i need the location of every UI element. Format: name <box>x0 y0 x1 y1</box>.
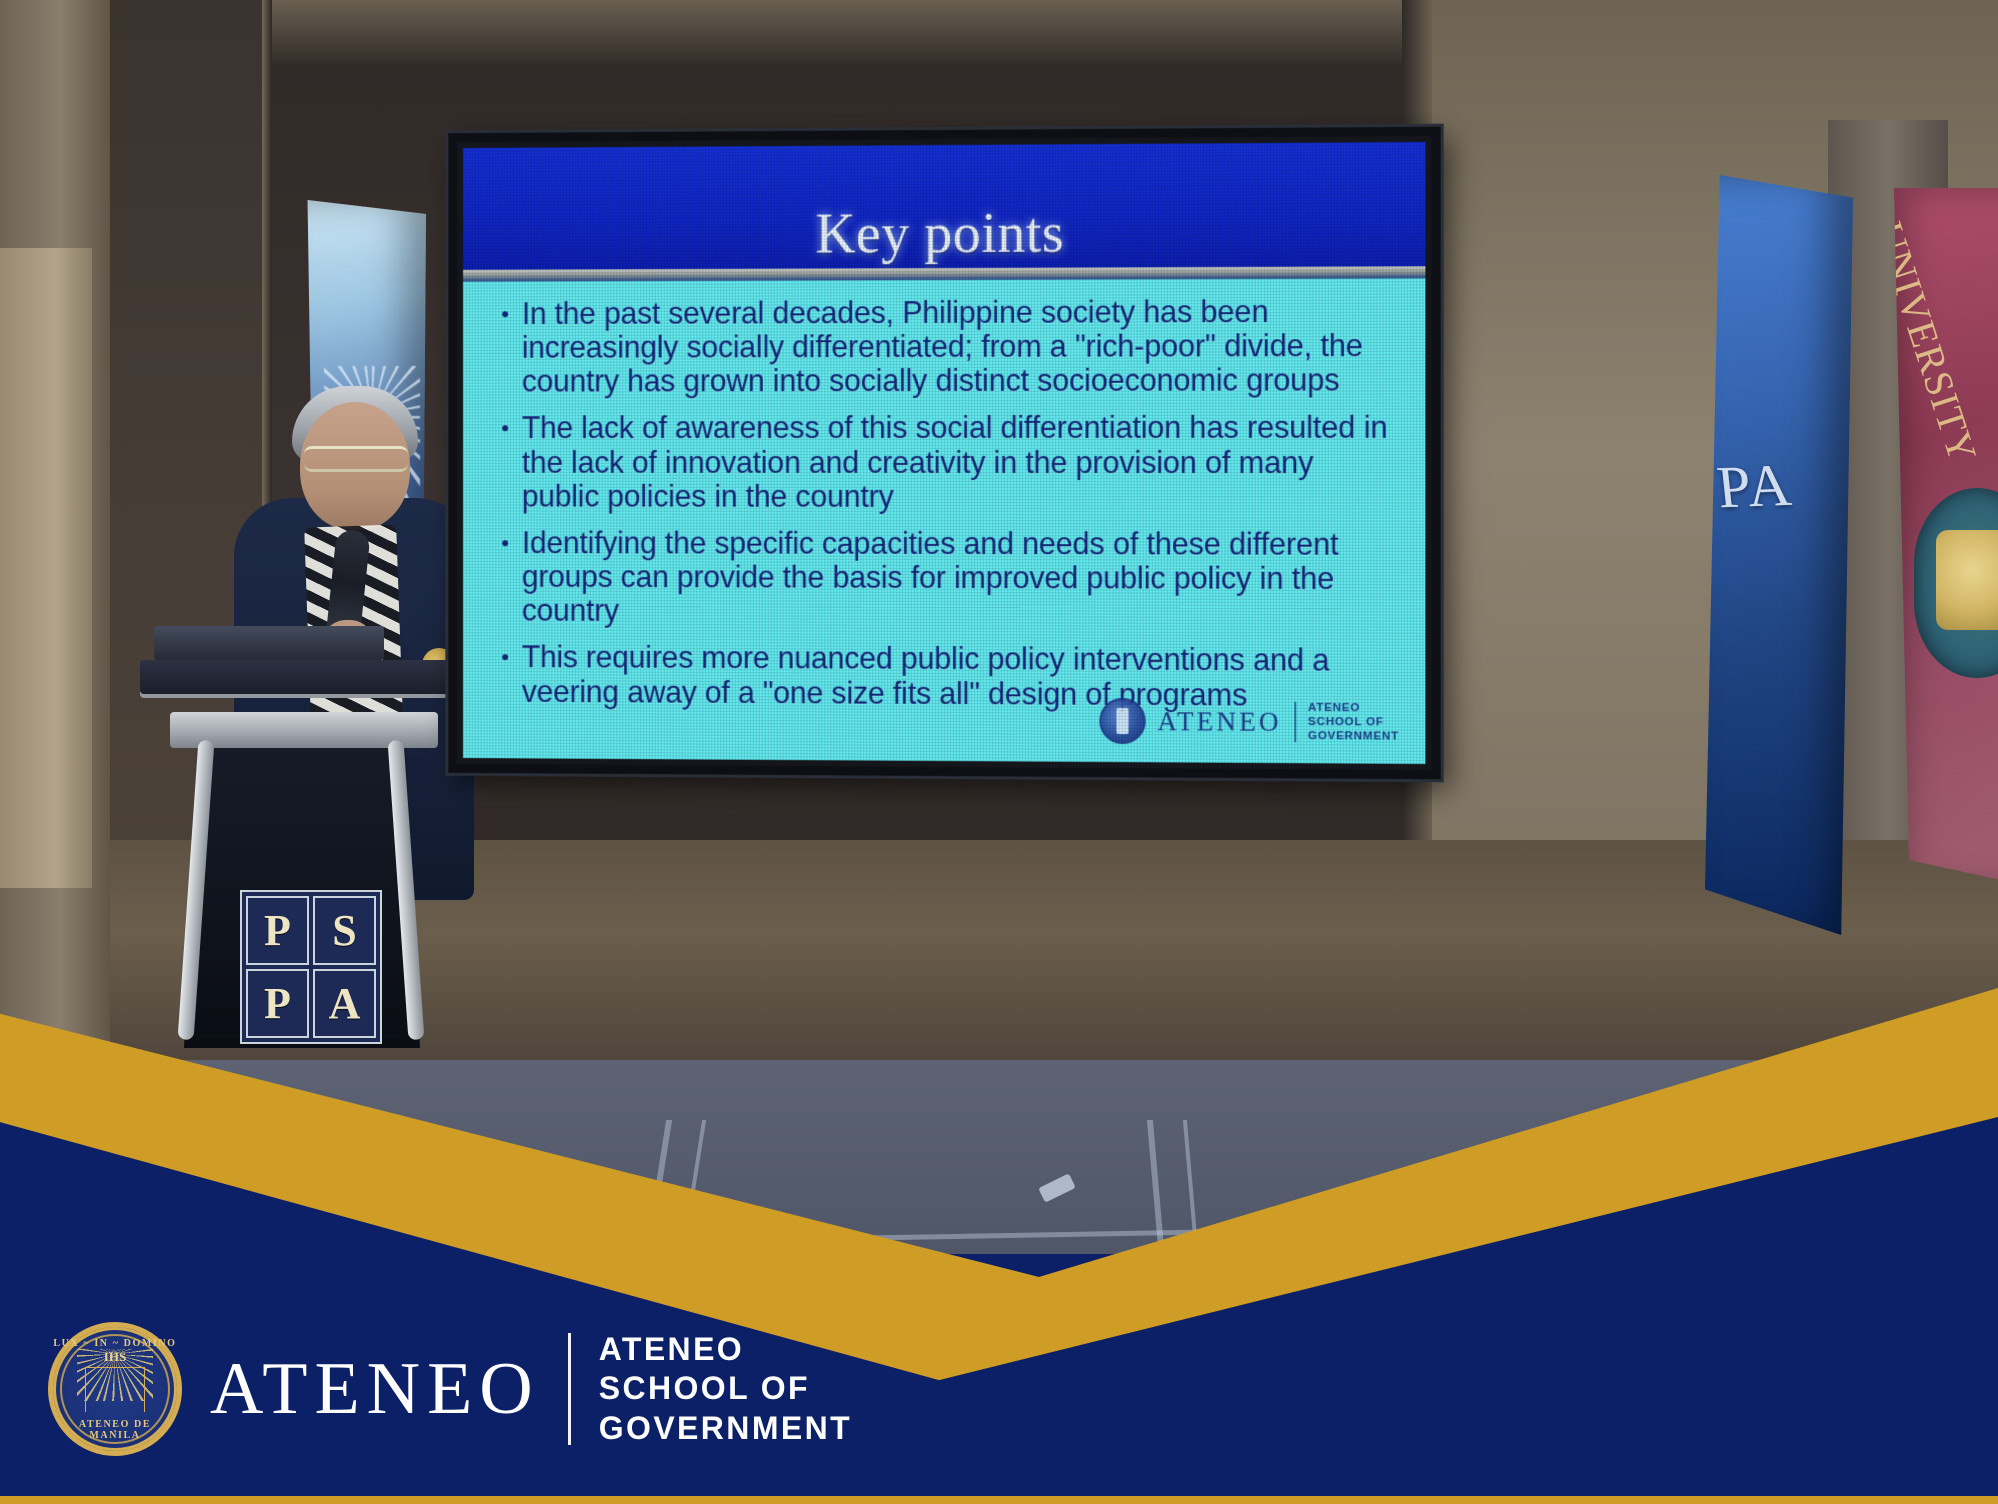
slide-logo-unit-line: GOVERNMENT <box>1308 729 1399 744</box>
ateneo-seal-icon <box>1099 698 1145 744</box>
banner-unit-name: ATENEO SCHOOL OF GOVERNMENT <box>599 1330 852 1447</box>
banner-unit-line: ATENEO <box>599 1330 852 1369</box>
slide-ateneo-lockup: ATENEO ATENEO SCHOOL OF GOVERNMENT <box>1099 698 1399 746</box>
seal-motto-bottom: ATENEO DE MANILA <box>53 1419 177 1441</box>
pspa-letter: A <box>313 969 376 1038</box>
blue-flag-monogram: PA <box>1714 456 1851 699</box>
slide-logo-unit-line: ATENEO <box>1308 701 1399 716</box>
wall-recess-top <box>262 0 1402 66</box>
slide-bullet-item: Identifying the specific capacities and … <box>492 526 1398 631</box>
seal-monogram: IHS <box>104 1349 126 1365</box>
lectern-top <box>140 660 460 694</box>
pspa-letter: P <box>246 896 309 965</box>
pspa-lectern-logo: P S P A <box>240 890 382 1044</box>
pspa-letter: S <box>313 896 376 965</box>
banner-ateneo-wordmark: ATENEO <box>210 1352 540 1426</box>
banner-divider <box>568 1333 571 1445</box>
banner-unit-line: GOVERNMENT <box>599 1409 852 1448</box>
banner-unit-line: SCHOOL OF <box>599 1369 852 1408</box>
conference-photo: PA UNIVERSITY <box>0 0 1998 1504</box>
lectern: P S P A <box>140 660 460 1060</box>
blue-organization-flag: PA <box>1705 175 1853 935</box>
pspa-letter: P <box>246 969 309 1038</box>
slide-logo-divider <box>1294 702 1296 742</box>
ateneo-de-manila-seal-icon: LUX ~ IN ~ DOMINO IHS ATENEO DE MANILA <box>48 1322 182 1456</box>
slide-ateneo-wordmark: ATENEO <box>1157 706 1281 738</box>
lectern-upper-shelf <box>154 626 384 660</box>
presentation-led-screen: Key points In the past several decades, … <box>448 127 1440 780</box>
ateneo-brand-lockup: LUX ~ IN ~ DOMINO IHS ATENEO DE MANILA A… <box>48 1322 852 1456</box>
seal-motto-top: LUX ~ IN ~ DOMINO <box>53 1338 177 1349</box>
left-pilaster-light <box>0 248 92 888</box>
slide-bullet-item: In the past several decades, Philippine … <box>492 295 1398 399</box>
floor-object <box>905 1250 931 1268</box>
slide-logo-unit-line: SCHOOL OF <box>1308 715 1399 730</box>
slide-title-bar: Key points <box>463 142 1425 270</box>
maroon-flag-crest <box>1914 488 1998 678</box>
slide-logo-unit: ATENEO SCHOOL OF GOVERNMENT <box>1308 701 1399 744</box>
slide-body: In the past several decades, Philippine … <box>463 278 1425 758</box>
slide-bullet-list: In the past several decades, Philippine … <box>492 295 1398 714</box>
slide-title: Key points <box>463 204 1425 264</box>
slide-canvas: Key points In the past several decades, … <box>463 142 1425 764</box>
screenshot-stage: PA UNIVERSITY <box>0 0 1998 1504</box>
eyeglasses-icon <box>304 446 408 472</box>
slide-bullet-item: The lack of awareness of this social dif… <box>492 411 1398 514</box>
